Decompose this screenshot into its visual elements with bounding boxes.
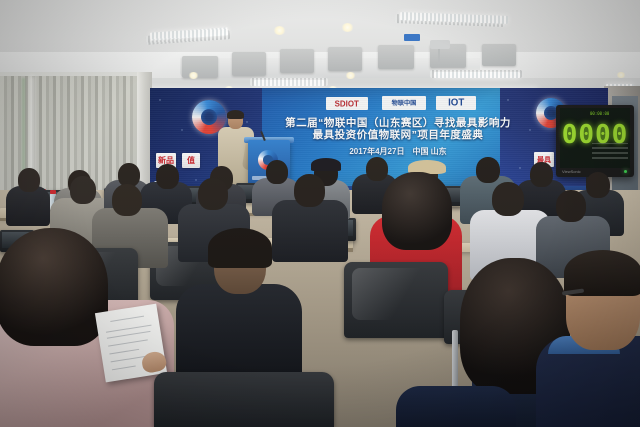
panel-light-3 xyxy=(254,80,324,86)
air-vent-4 xyxy=(328,47,362,71)
downlight-3 xyxy=(188,72,199,79)
attendee-mid-grey-head xyxy=(556,190,586,222)
projector-mount xyxy=(438,49,440,63)
attendee-red-jacket-hair xyxy=(382,172,452,250)
attendee-dark-suit-torso xyxy=(176,284,302,380)
ceiling-projector xyxy=(430,40,450,49)
attendee-back-5-head xyxy=(156,164,179,189)
monitor-ghost-text xyxy=(592,143,628,159)
attendee-mid-white-shirt-head xyxy=(492,182,524,216)
downlight-2 xyxy=(341,23,354,32)
paper-line-1 xyxy=(110,316,144,322)
downlight-9 xyxy=(616,72,626,78)
office-chair-foreground-mid xyxy=(154,372,334,427)
air-vent-5 xyxy=(378,45,414,69)
attendee-back-9-head xyxy=(366,157,388,181)
water-bottle-cap-2 xyxy=(50,190,56,194)
panel-light-4 xyxy=(434,72,520,78)
attendee-back-7-head xyxy=(266,160,288,184)
paper-line-7 xyxy=(112,366,136,371)
attendee-pink-jacket-hair xyxy=(0,228,108,346)
attendee-mid-2-head xyxy=(294,174,325,207)
attendee-back-13-head xyxy=(586,172,610,198)
monitor-brand-label: ViewSonic xyxy=(562,169,581,174)
air-vent-2 xyxy=(232,52,266,76)
paper-line-4 xyxy=(108,339,148,346)
attendee-back-12-head xyxy=(530,162,553,187)
attendee-back-1-torso xyxy=(6,186,50,226)
countdown-corner-label: 00:00:00 xyxy=(590,111,609,116)
attendee-back-3-head xyxy=(70,176,96,204)
blue-ceiling-sign xyxy=(404,34,420,41)
air-vent-3 xyxy=(280,49,314,73)
conference-photo: SDIOT 物联中国 IOT 第二届“物联中国（山东赛区）寻找最具影响力 最具投… xyxy=(0,0,640,427)
attendee-bottom-right-shoulder xyxy=(396,386,516,427)
attendee-mid-1-head xyxy=(198,178,228,210)
speaker-hair xyxy=(227,110,244,119)
air-vent-7 xyxy=(482,44,516,66)
attendee-dark-suit-hair xyxy=(208,228,272,268)
attendee-back-11-head xyxy=(476,157,500,183)
downlight-1 xyxy=(273,26,286,35)
monitor-power-led-icon xyxy=(624,170,627,173)
downlight-4 xyxy=(345,72,356,79)
paper-line-5 xyxy=(109,349,139,355)
attendee-mid-3-head xyxy=(112,184,142,216)
paper-line-3 xyxy=(107,331,151,339)
office-chair-red-jacket-sheen xyxy=(352,268,438,320)
attendee-black-cap xyxy=(311,158,341,171)
attendee-mid-2-torso xyxy=(272,200,348,262)
attendee-back-1-head xyxy=(18,168,40,192)
chair-leg-3 xyxy=(452,330,458,390)
